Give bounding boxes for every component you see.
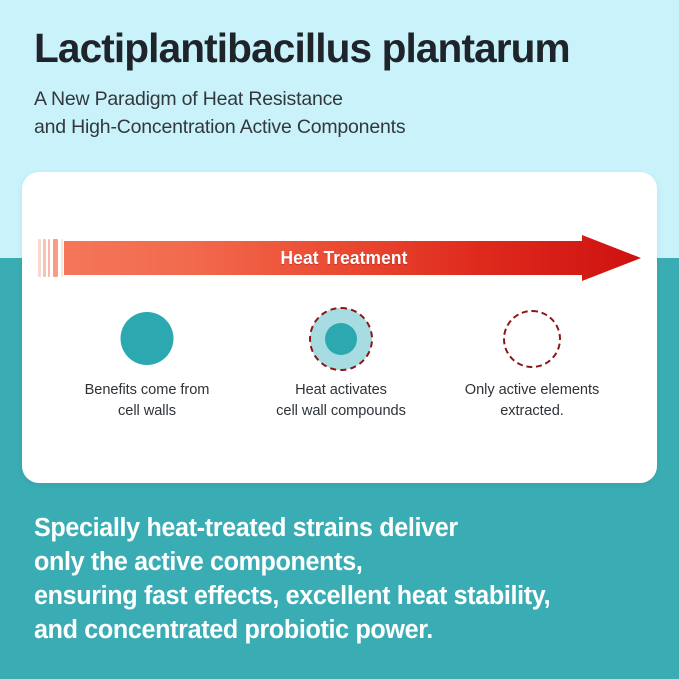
stage-cell-walls: Benefits come from cell walls	[47, 300, 247, 421]
dashed-circle-icon	[309, 307, 373, 371]
stage-caption: Benefits come from cell walls	[47, 380, 247, 421]
stage-extracted: Only active elements extracted.	[432, 300, 632, 421]
solid-teal-circle-icon	[121, 312, 174, 365]
speed-line-icon	[61, 239, 63, 277]
statement-line: and concentrated probiotic power.	[34, 614, 645, 648]
stage-caption-line: cell wall compounds	[241, 401, 441, 422]
stage-caption-line: extracted.	[432, 401, 632, 422]
stage-caption-line: cell walls	[47, 401, 247, 422]
infographic-poster: Lactiplantibacillus plantarum A New Para…	[0, 0, 679, 679]
statement-line: ensuring fast effects, excellent heat st…	[34, 580, 645, 614]
stage-caption-line: Benefits come from	[47, 380, 247, 401]
statement-line: Specially heat-treated strains deliver	[34, 512, 645, 546]
stage-list: Benefits come from cell walls Heat activ…	[22, 300, 657, 430]
stage-caption: Heat activates cell wall compounds	[241, 380, 441, 421]
speed-line-icon	[53, 239, 58, 277]
summary-statement: Specially heat-treated strains deliver o…	[34, 512, 654, 648]
heat-treatment-arrow: Heat Treatment	[38, 235, 641, 281]
speed-line-icon	[38, 239, 41, 277]
page-subtitle: A New Paradigm of Heat Resistance and Hi…	[34, 86, 405, 141]
stage-icon-slot	[47, 300, 247, 378]
page-title: Lactiplantibacillus plantarum	[34, 25, 570, 72]
stage-icon-slot	[432, 300, 632, 378]
statement-line: only the active components,	[34, 546, 645, 580]
subtitle-line-2: and High-Concentration Active Components	[34, 114, 405, 142]
stage-caption-line: Heat activates	[241, 380, 441, 401]
dashed-circle-icon	[503, 310, 561, 368]
stage-heat-activates: Heat activates cell wall compounds	[241, 300, 441, 421]
subtitle-line-1: A New Paradigm of Heat Resistance	[34, 86, 405, 114]
stage-caption: Only active elements extracted.	[432, 380, 632, 421]
speed-line-icon	[48, 239, 50, 277]
stage-icon-slot	[241, 300, 441, 378]
speed-line-icon	[43, 239, 46, 277]
stage-caption-line: Only active elements	[432, 380, 632, 401]
arrow-label: Heat Treatment	[81, 235, 607, 281]
